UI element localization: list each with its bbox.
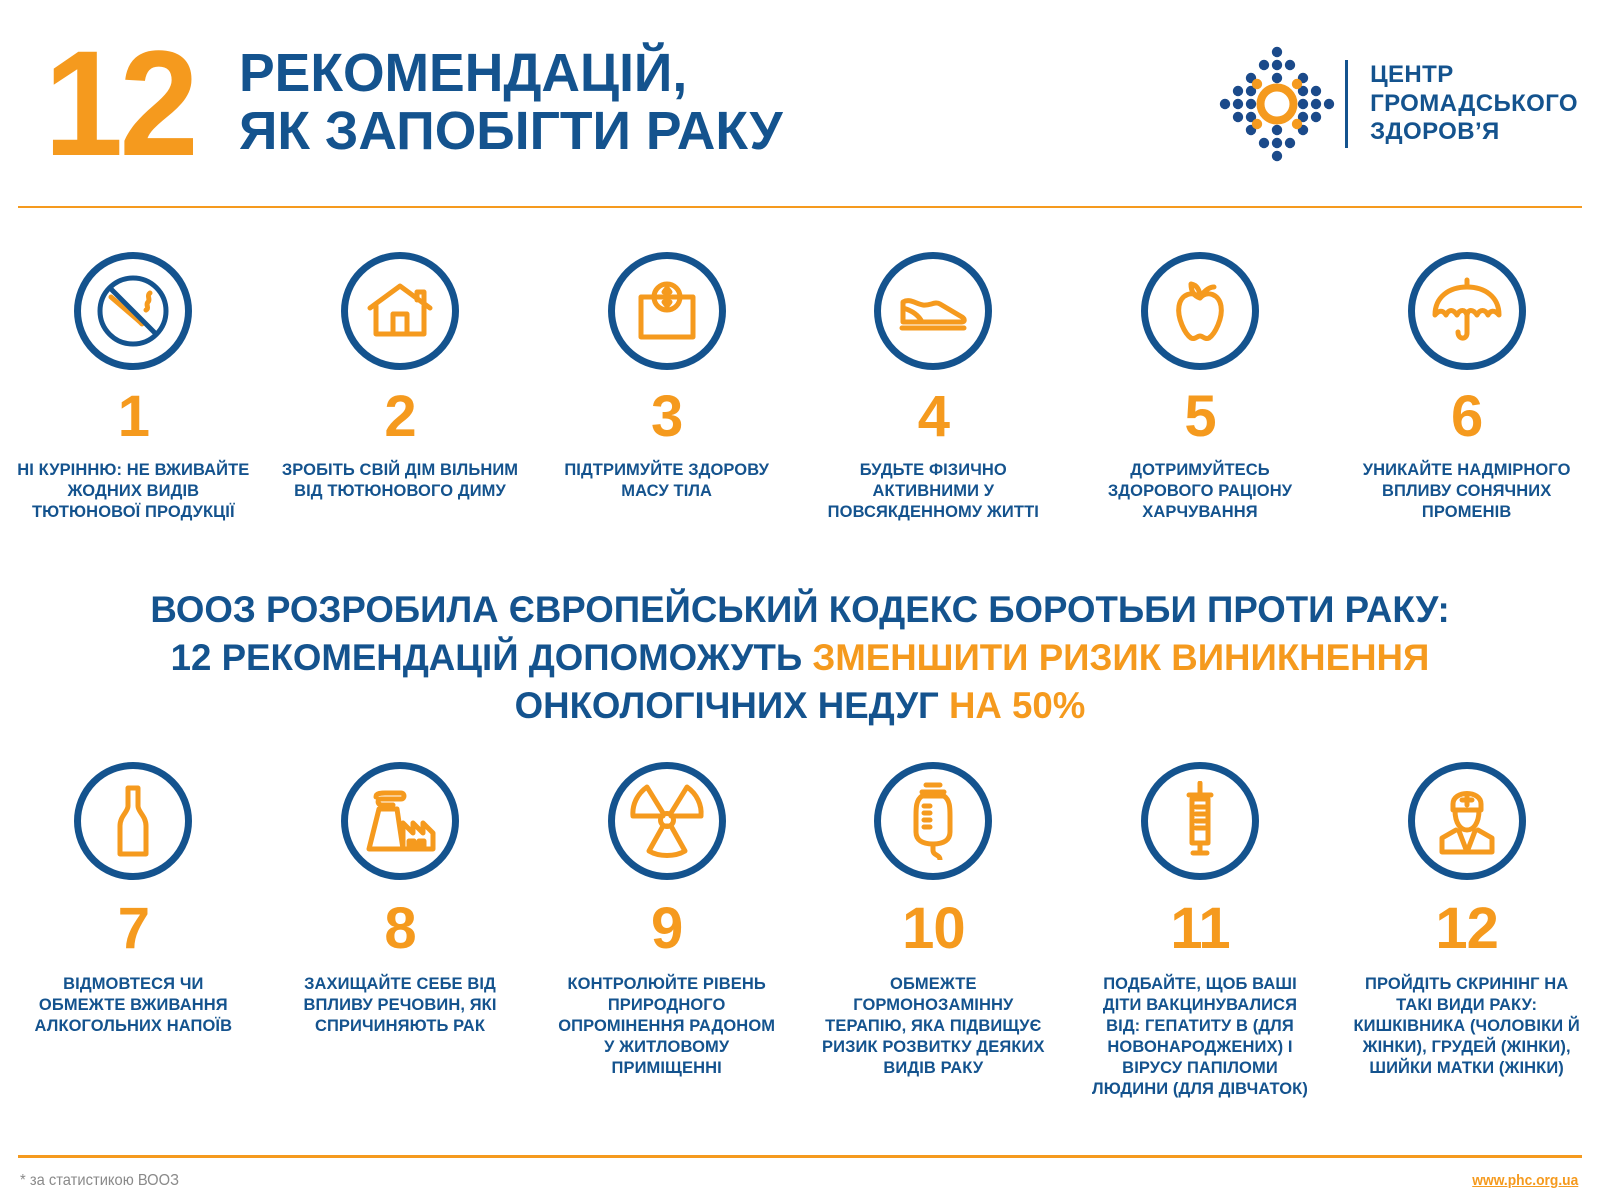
icon-circle-11 xyxy=(1141,762,1259,880)
icon-circle-10 xyxy=(874,762,992,880)
icon-circle-7 xyxy=(74,762,192,880)
footer-divider-rule xyxy=(18,1155,1582,1158)
icon-circle-2 xyxy=(341,252,459,370)
icon-circle-3-wrap: 3 ПІДТРИМУЙТЕ ЗДОРОВУ МАСУ ТІЛА xyxy=(533,252,800,523)
infographic-page: 12 РЕКОМЕНДАЦІЙ, ЯК ЗАПОБІГТИ РАКУ xyxy=(0,0,1600,1200)
no-smoking-icon xyxy=(95,273,171,349)
middle-headline-line-2: 12 РЕКОМЕНДАЦІЙ ДОПОМОЖУТЬ ЗМЕНШИТИ РИЗИ… xyxy=(8,634,1592,682)
icon-circle-6 xyxy=(1408,252,1526,370)
recommendation-item-5: 5 ДОТРИМУЙТЕСЬ ЗДОРОВОГО РАЦІОНУ ХАРЧУВА… xyxy=(1067,252,1334,523)
sneaker-icon xyxy=(896,274,970,348)
icon-circle-3 xyxy=(608,252,726,370)
recommendations-row-bottom: 7 ВІДМОВТЕСЯ ЧИ ОБМЕЖТЕ ВЖИВАННЯ АЛКОГОЛ… xyxy=(0,762,1600,1100)
middle-headline: ВООЗ РОЗРОБИЛА ЄВРОПЕЙСЬКИЙ КОДЕКС БОРОТ… xyxy=(8,586,1592,730)
website-link[interactable]: www.phc.org.ua xyxy=(1472,1172,1578,1189)
middle-headline-line-2-accent: ЗМЕНШИТИ РИЗИК ВИНИКНЕННЯ xyxy=(812,637,1429,678)
middle-headline-line-3: ОНКОЛОГІЧНИХ НЕДУГ НА 50% xyxy=(8,682,1592,730)
radiation-icon xyxy=(629,783,705,859)
recommendation-text-3: ПІДТРИМУЙТЕ ЗДОРОВУ МАСУ ТІЛА xyxy=(547,460,787,502)
dot-diamond-logo-icon xyxy=(1217,44,1337,164)
iv-drip-icon xyxy=(908,782,958,860)
recommendation-number-8: 8 xyxy=(384,900,415,958)
logo-wordmark-line-2: ГРОМАДСЬКОГО xyxy=(1370,90,1578,119)
header-divider-rule xyxy=(18,206,1582,208)
recommendation-text-8: ЗАХИЩАЙТЕ СЕБЕ ВІД ВПЛИВУ РЕЧОВИН, ЯКІ С… xyxy=(285,974,515,1037)
house-icon xyxy=(365,276,435,346)
recommendation-item-11: 11 ПОДБАЙТЕ, ЩОБ ВАШІ ДІТИ ВАКЦИНУВАЛИСЯ… xyxy=(1067,762,1334,1100)
middle-headline-line-3-plain: ОНКОЛОГІЧНИХ НЕДУГ xyxy=(515,685,949,726)
icon-circle-1 xyxy=(74,252,192,370)
icon-circle-12 xyxy=(1408,762,1526,880)
recommendation-item-8: 8 ЗАХИЩАЙТЕ СЕБЕ ВІД ВПЛИВУ РЕЧОВИН, ЯКІ… xyxy=(267,762,534,1100)
logo-divider xyxy=(1345,60,1348,148)
bottle-icon xyxy=(109,784,157,858)
recommendation-text-1: НІ КУРІННЮ: НЕ ВЖИВАЙТЕ ЖОДНИХ ВИДІВ ТЮТ… xyxy=(13,460,253,523)
recommendation-text-11: ПОДБАЙТЕ, ЩОБ ВАШІ ДІТИ ВАКЦИНУВАЛИСЯ ВІ… xyxy=(1085,974,1315,1100)
icon-circle-9 xyxy=(608,762,726,880)
logo-wordmark-line-1: ЦЕНТР xyxy=(1370,61,1578,90)
recommendation-text-12: ПРОЙДІТЬ СКРИНІНГ НА ТАКІ ВИДИ РАКУ: КИШ… xyxy=(1352,974,1582,1079)
recommendation-number-5: 5 xyxy=(1184,388,1215,446)
recommendation-number-10: 10 xyxy=(902,900,965,958)
recommendation-number-1: 1 xyxy=(118,388,149,446)
umbrella-icon xyxy=(1430,275,1504,347)
logo-wordmark-line-3: ЗДОРОВ’Я xyxy=(1370,118,1578,147)
recommendations-row-top: 1 НІ КУРІННЮ: НЕ ВЖИВАЙТЕ ЖОДНИХ ВИДІВ Т… xyxy=(0,252,1600,523)
page-title-line-2: ЯК ЗАПОБІГТИ РАКУ xyxy=(239,103,783,160)
icon-circle-4 xyxy=(874,252,992,370)
recommendation-text-6: УНИКАЙТЕ НАДМІРНОГО ВПЛИВУ СОНЯЧНИХ ПРОМ… xyxy=(1347,460,1587,523)
recommendation-item-1: 1 НІ КУРІННЮ: НЕ ВЖИВАЙТЕ ЖОДНИХ ВИДІВ Т… xyxy=(0,252,267,523)
recommendation-item-9: 9 КОНТРОЛЮЙТЕ РІВЕНЬ ПРИРОДНОГО ОПРОМІНЕ… xyxy=(533,762,800,1100)
middle-headline-line-3-accent: НА 50% xyxy=(949,685,1085,726)
recommendation-text-7: ВІДМОВТЕСЯ ЧИ ОБМЕЖТЕ ВЖИВАННЯ АЛКОГОЛЬН… xyxy=(18,974,248,1037)
recommendation-number-3: 3 xyxy=(651,388,682,446)
recommendation-item-7: 7 ВІДМОВТЕСЯ ЧИ ОБМЕЖТЕ ВЖИВАННЯ АЛКОГОЛ… xyxy=(0,762,267,1100)
recommendation-text-9: КОНТРОЛЮЙТЕ РІВЕНЬ ПРИРОДНОГО ОПРОМІНЕНН… xyxy=(552,974,782,1079)
icon-circle-8 xyxy=(341,762,459,880)
footnote-text: * за статистикою ВООЗ xyxy=(20,1172,179,1190)
headline-big-number: 12 xyxy=(44,37,195,169)
recommendation-item-10: 10 ОБМЕЖТЕ ГОРМОНОЗАМІННУ ТЕРАПІЮ, ЯКА П… xyxy=(800,762,1067,1100)
recommendation-item-6: 6 УНИКАЙТЕ НАДМІРНОГО ВПЛИВУ СОНЯЧНИХ ПР… xyxy=(1333,252,1600,523)
syringe-icon xyxy=(1178,781,1222,861)
recommendation-text-5: ДОТРИМУЙТЕСЬ ЗДОРОВОГО РАЦІОНУ ХАРЧУВАНН… xyxy=(1080,460,1320,523)
icon-circle-5 xyxy=(1141,252,1259,370)
recommendation-item-2: 2 ЗРОБІТЬ СВІЙ ДІМ ВІЛЬНИМ ВІД ТЮТЮНОВОГ… xyxy=(267,252,534,523)
middle-headline-line-1: ВООЗ РОЗРОБИЛА ЄВРОПЕЙСЬКИЙ КОДЕКС БОРОТ… xyxy=(8,586,1592,634)
recommendation-text-10: ОБМЕЖТЕ ГОРМОНОЗАМІННУ ТЕРАПІЮ, ЯКА ПІДВ… xyxy=(818,974,1048,1079)
doctor-icon xyxy=(1430,784,1504,858)
recommendation-number-2: 2 xyxy=(384,388,415,446)
recommendation-number-11: 11 xyxy=(1170,900,1229,958)
middle-headline-line-2-plain: 12 РЕКОМЕНДАЦІЙ ДОПОМОЖУТЬ xyxy=(171,637,813,678)
page-title: РЕКОМЕНДАЦІЙ, ЯК ЗАПОБІГТИ РАКУ xyxy=(239,45,783,159)
recommendation-number-7: 7 xyxy=(118,900,149,958)
recommendation-number-4: 4 xyxy=(918,388,949,446)
recommendation-item-4: 4 БУДЬТЕ ФІЗИЧНО АКТИВНИМИ У ПОВСЯКДЕННО… xyxy=(800,252,1067,523)
recommendation-number-9: 9 xyxy=(651,900,682,958)
recommendation-text-4: БУДЬТЕ ФІЗИЧНО АКТИВНИМИ У ПОВСЯКДЕННОМУ… xyxy=(813,460,1053,523)
recommendation-number-12: 12 xyxy=(1435,900,1498,958)
recommendation-text-2: ЗРОБІТЬ СВІЙ ДІМ ВІЛЬНИМ ВІД ТЮТЮНОВОГО … xyxy=(280,460,520,502)
page-title-line-1: РЕКОМЕНДАЦІЙ, xyxy=(239,45,783,102)
organization-logo: ЦЕНТР ГРОМАДСЬКОГО ЗДОРОВ’Я xyxy=(1217,44,1578,164)
factory-icon xyxy=(361,785,439,857)
recommendation-item-12: 12 ПРОЙДІТЬ СКРИНІНГ НА ТАКІ ВИДИ РАКУ: … xyxy=(1333,762,1600,1100)
logo-wordmark: ЦЕНТР ГРОМАДСЬКОГО ЗДОРОВ’Я xyxy=(1370,61,1578,147)
apple-icon xyxy=(1167,276,1233,346)
recommendation-number-6: 6 xyxy=(1451,388,1482,446)
weight-scale-icon xyxy=(633,277,701,345)
